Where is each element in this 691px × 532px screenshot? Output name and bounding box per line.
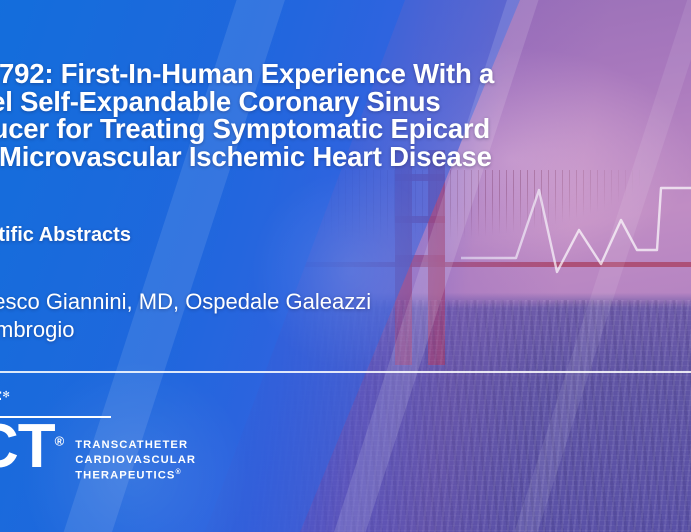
tct-subtitle-line-3-text: THERAPEUTICS xyxy=(75,470,175,482)
tct-subtitle-line-3: THERAPEUTICS® xyxy=(75,468,196,484)
tct-subtitle: TRANSCATHETER CARDIOVASCULAR THERAPEUTIC… xyxy=(75,438,196,484)
title-line-4: d Microvascular Ischemic Heart Disease xyxy=(0,143,691,171)
slide-content: T 792: First-In-Human Experience With a … xyxy=(0,0,691,532)
title-line-2: vel Self-Expandable Coronary Sinus xyxy=(0,88,691,116)
tct-subtitle-line-1: TRANSCATHETER xyxy=(75,438,196,453)
crf-registered-icon: ✻ xyxy=(2,390,10,400)
crf-wordmark: RF✻ xyxy=(0,390,274,409)
presenter-line-2: t'Ambrogio xyxy=(0,316,691,344)
presenter-affiliation: ncesco Giannini, MD, Ospedale Galeazzi t… xyxy=(0,288,691,344)
tct-wordmark: CT® xyxy=(0,418,63,477)
crf-tct-logo: RF✻ CT® TRANSCATHETER CARDIOVASCULAR THE… xyxy=(0,390,274,484)
tct-text: CT xyxy=(0,412,55,481)
tct-subtitle-registered-icon: ® xyxy=(175,469,181,476)
tct-subtitle-line-2: CARDIOVASCULAR xyxy=(75,453,196,468)
title-line-1: T 792: First-In-Human Experience With a xyxy=(0,60,691,88)
presentation-slide: T 792: First-In-Human Experience With a … xyxy=(0,0,691,532)
title-line-3: ducer for Treating Symptomatic Epicard xyxy=(0,115,691,143)
tct-registered-icon: ® xyxy=(55,433,64,448)
tct-lockup-row: CT® TRANSCATHETER CARDIOVASCULAR THERAPE… xyxy=(0,420,274,484)
presentation-title: T 792: First-In-Human Experience With a … xyxy=(0,60,691,170)
presenter-line-1: ncesco Giannini, MD, Ospedale Galeazzi xyxy=(0,288,691,316)
session-label: entific Abstracts xyxy=(0,224,131,247)
